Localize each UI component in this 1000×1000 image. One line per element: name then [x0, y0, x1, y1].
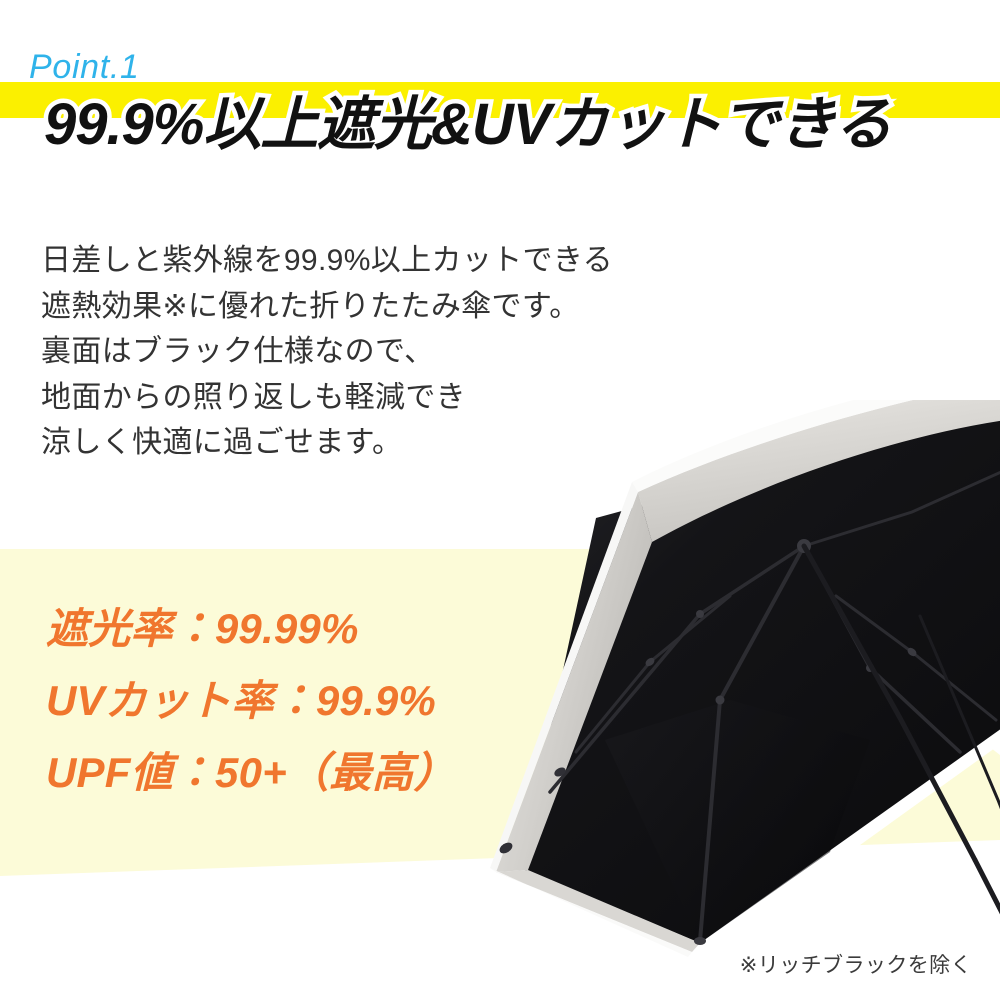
- marketing-banner: Point.1 99.9%以上遮光&UVカットできる 日差しと紫外線を99.9%…: [0, 0, 1000, 1000]
- spec-row-upf-value: UPF値：50+（最高）: [46, 752, 456, 794]
- spec-list: 遮光率：99.99% UVカット率：99.9% UPF値：50+（最高）: [46, 608, 456, 794]
- spec-row-uv-cut-rate: UVカット率：99.9%: [46, 680, 456, 722]
- description-text: 日差しと紫外線を99.9%以上カットできる 遮熱効果※に優れた折りたたみ傘です。…: [41, 238, 613, 466]
- description-line: 遮熱効果※に優れた折りたたみ傘です。: [41, 284, 613, 330]
- spec-row-shading-rate: 遮光率：99.99%: [46, 608, 456, 650]
- point-eyebrow-label: Point.1: [29, 50, 140, 84]
- product-photo-umbrella: [400, 400, 1000, 1000]
- description-line: 地面からの照り返しも軽減でき: [41, 375, 613, 421]
- description-line: 涼しく快適に過ごせます。: [41, 420, 613, 466]
- page-title: 99.9%以上遮光&UVカットできる: [44, 96, 891, 154]
- description-line: 日差しと紫外線を99.9%以上カットできる: [41, 238, 613, 284]
- description-line: 裏面はブラック仕様なので、: [41, 329, 613, 375]
- footnote-text: ※リッチブラックを除く: [740, 949, 972, 979]
